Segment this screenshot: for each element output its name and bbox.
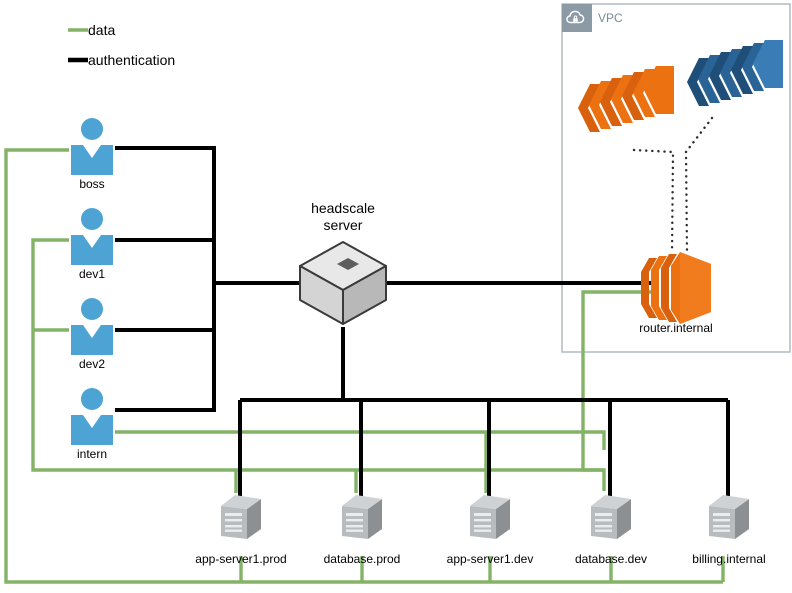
node-database-dev[interactable]: database.dev	[575, 495, 647, 566]
database-dev-label: database.dev	[575, 552, 647, 566]
server-icon	[342, 495, 382, 539]
server-icon	[709, 495, 749, 539]
cube-icon[interactable]	[300, 242, 386, 324]
node-database-prod[interactable]: database.prod	[324, 495, 401, 566]
app-server1-prod-label: app-server1.prod	[195, 552, 286, 566]
actor-intern[interactable]: intern	[71, 388, 113, 461]
node-app-server1-prod[interactable]: app-server1.prod	[195, 495, 286, 566]
user-icon	[71, 208, 113, 265]
server-icon	[470, 495, 510, 539]
aws-router-icon[interactable]	[641, 252, 711, 324]
actor-dev1-label: dev1	[79, 267, 105, 281]
router-internal-label: router.internal	[639, 321, 712, 335]
network-topology-diagram: VPC	[0, 0, 792, 593]
actor-dev2[interactable]: dev2	[71, 298, 113, 371]
actor-dev1[interactable]: dev1	[71, 208, 113, 281]
node-app-server1-dev[interactable]: app-server1.dev	[447, 495, 534, 566]
app-server1-dev-label: app-server1.dev	[447, 552, 534, 566]
actor-boss-label: boss	[79, 177, 104, 191]
actor-dev2-label: dev2	[79, 357, 105, 371]
user-icon	[71, 298, 113, 355]
actor-boss[interactable]: boss	[71, 118, 113, 191]
vpc-label: VPC	[598, 11, 623, 25]
server-icon	[221, 495, 261, 539]
headscale-server-label-line2: server	[324, 217, 363, 233]
node-billing-internal[interactable]: billing.internal	[692, 495, 765, 566]
user-icon	[71, 388, 113, 445]
database-prod-label: database.prod	[324, 552, 401, 566]
actor-intern-label: intern	[77, 447, 107, 461]
legend-label-authentication: authentication	[88, 52, 175, 68]
server-icon	[591, 495, 631, 539]
legend-item-data: data	[68, 22, 115, 38]
auth-user-bus-vertical	[115, 148, 214, 410]
billing-internal-label: billing.internal	[692, 552, 765, 566]
headscale-server-label-line1: headscale	[311, 200, 375, 216]
diagram-canvas: VPC	[0, 0, 792, 593]
legend-item-authentication: authentication	[68, 52, 175, 68]
legend: data authentication	[68, 22, 175, 68]
user-icon	[71, 118, 113, 175]
legend-label-data: data	[88, 22, 115, 38]
